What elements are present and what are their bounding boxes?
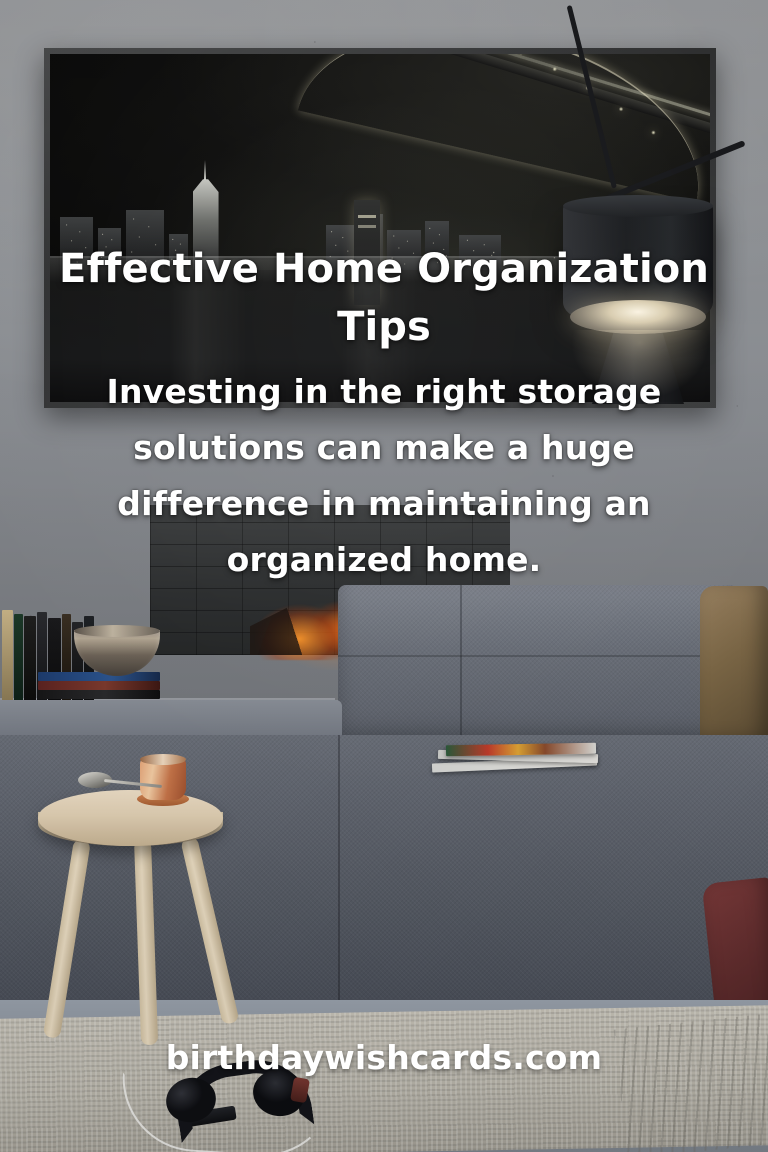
text-overlay: Effective Home Organization Tips Investi…: [0, 0, 768, 1152]
pinterest-pin-image: Effective Home Organization Tips Investi…: [0, 0, 768, 1152]
pin-headline: Effective Home Organization Tips: [40, 240, 728, 356]
site-watermark: birthdaywishcards.com: [0, 1038, 768, 1078]
pin-subheadline: Investing in the right storage solutions…: [96, 364, 672, 588]
